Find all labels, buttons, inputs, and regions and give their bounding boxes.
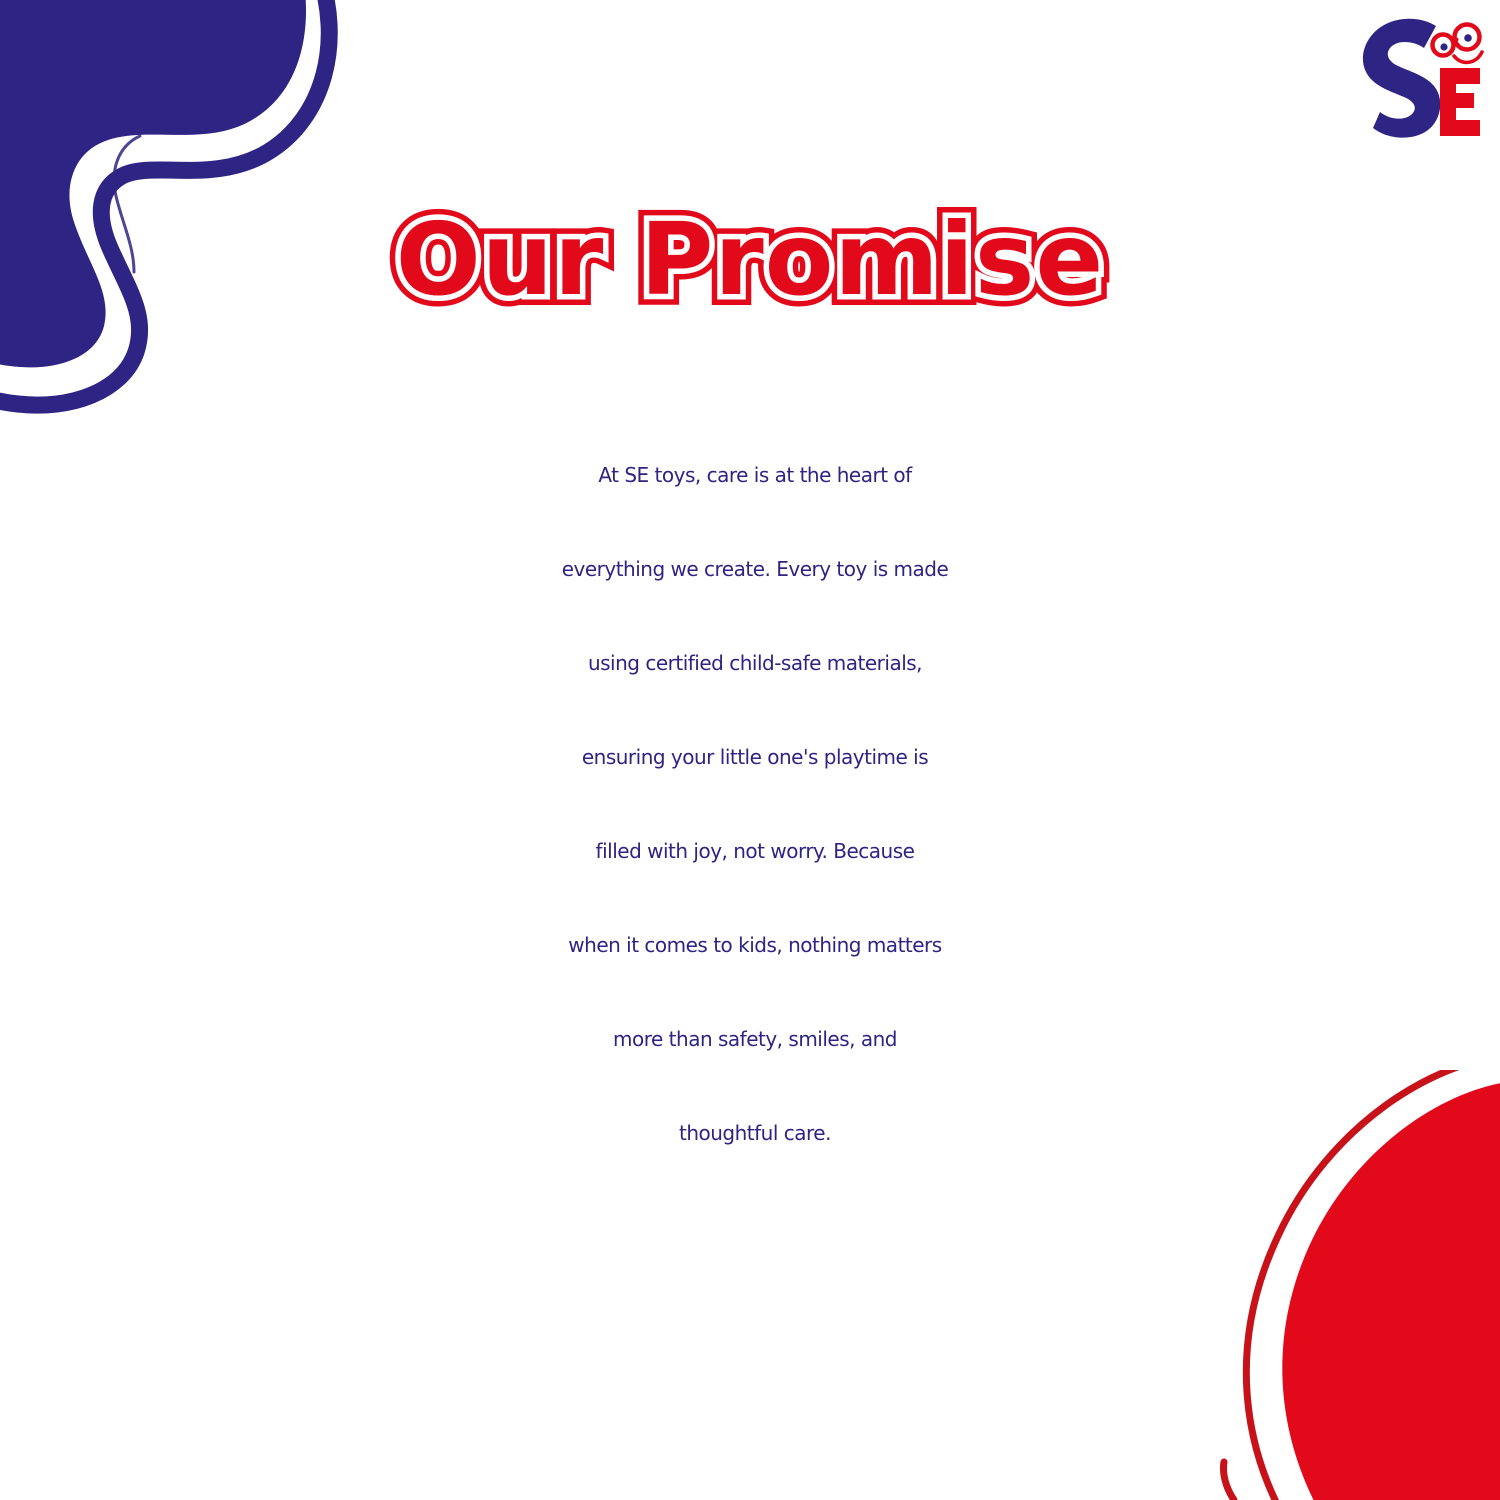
page-title: Our Promise Our Promise Our Promise (396, 196, 1104, 324)
promise-line: thoughtful care. (150, 1086, 1360, 1180)
promise-line: more than safety, smiles, and (150, 992, 1360, 1086)
logo-pupil-left-icon (1440, 43, 1447, 50)
promise-line: ensuring your little one's playtime is (150, 710, 1360, 804)
brand-logo[interactable] (1352, 12, 1488, 144)
logo-letter-e-bottom (1440, 120, 1480, 136)
promise-line: everything we create. Every toy is made (150, 522, 1360, 616)
blob-red-tick (1223, 1462, 1234, 1500)
blob-dash-accent-a (146, 130, 158, 131)
promise-paragraph: At SE toys, care is at the heart of ever… (150, 428, 1360, 1180)
logo-letter-e-mid (1440, 93, 1474, 108)
promise-line: using certified child-safe materials, (150, 616, 1360, 710)
blob-dash-accent-b (168, 130, 178, 131)
logo-letter-s (1363, 19, 1440, 138)
logo-smile-icon (1454, 52, 1482, 62)
page-title-fill: Our Promise (396, 196, 1104, 324)
promise-line: when it comes to kids, nothing matters (150, 898, 1360, 992)
promise-line: filled with joy, not worry. Because (150, 804, 1360, 898)
page-title-container: Our Promise Our Promise Our Promise (0, 196, 1500, 324)
poster-canvas: Our Promise Our Promise Our Promise At S… (0, 0, 1500, 1500)
logo-letter-e-top (1440, 68, 1480, 84)
logo-pupil-right-icon (1464, 34, 1472, 42)
promise-line: At SE toys, care is at the heart of (150, 428, 1360, 522)
